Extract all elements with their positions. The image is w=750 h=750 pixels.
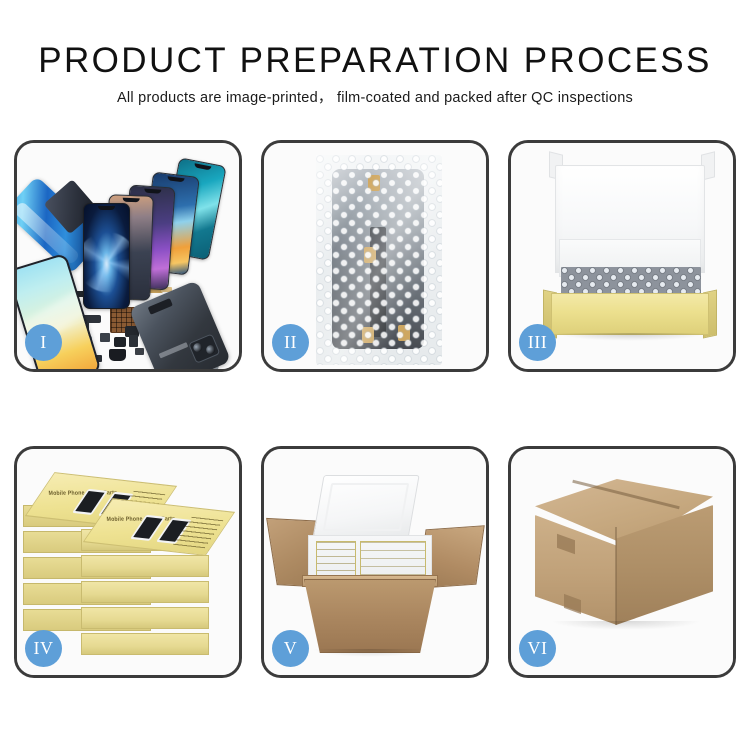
carton-vertical-edge <box>615 527 617 625</box>
stacked-box-front-3 <box>81 581 209 603</box>
stacked-box-front-4 <box>81 607 209 629</box>
housing-etching <box>159 342 189 358</box>
phone-notch-icon <box>167 176 184 182</box>
drop-shadow <box>312 649 428 657</box>
phone-notch-icon <box>98 206 115 210</box>
step-badge-5: V <box>272 630 309 667</box>
film-highlight <box>14 201 81 266</box>
phone-front-glass-panel <box>83 203 130 309</box>
step-panel-1[interactable]: I <box>14 140 242 372</box>
step-panel-4[interactable]: Mobile Phone Spare Parts Mobile Phone Sp… <box>14 446 242 678</box>
packed-boxes-left <box>316 541 356 579</box>
process-step-grid: I II <box>0 0 750 750</box>
camera-module-icon <box>188 333 221 363</box>
bubble-wrap-bag <box>316 155 442 365</box>
step-badge-4: IV <box>25 630 62 667</box>
foam-lid <box>312 475 419 539</box>
drop-shadow <box>555 333 707 341</box>
housing-slot <box>148 298 173 315</box>
step-badge-2: II <box>272 324 309 361</box>
step-badge-1: I <box>25 324 62 361</box>
product-preparation-infographic: PRODUCT PREPARATION PROCESS All products… <box>0 0 750 750</box>
speaker-part <box>109 349 126 361</box>
step-panel-5[interactable]: V <box>261 446 489 678</box>
carton-body <box>304 579 436 653</box>
phone-notch-icon <box>193 163 210 170</box>
packed-boxes-right <box>360 541 426 579</box>
phone-notch-icon <box>123 198 140 203</box>
step-panel-3[interactable]: III <box>508 140 736 372</box>
small-component-3 <box>129 335 138 347</box>
step-panel-2[interactable]: II <box>261 140 489 372</box>
step-panel-6[interactable]: VI <box>508 446 736 678</box>
phone-notch-icon <box>144 189 161 194</box>
plastic-sheen <box>316 155 442 365</box>
step-badge-3: III <box>519 324 556 361</box>
step-badge-6: VI <box>519 630 556 667</box>
drop-shadow <box>551 621 701 630</box>
small-component-6 <box>135 348 144 355</box>
small-component-1 <box>100 333 110 342</box>
stacked-box-front-5 <box>81 633 209 655</box>
yellow-box-front <box>551 293 709 335</box>
small-component-2 <box>114 337 126 347</box>
stacked-box-front-2 <box>81 555 209 577</box>
